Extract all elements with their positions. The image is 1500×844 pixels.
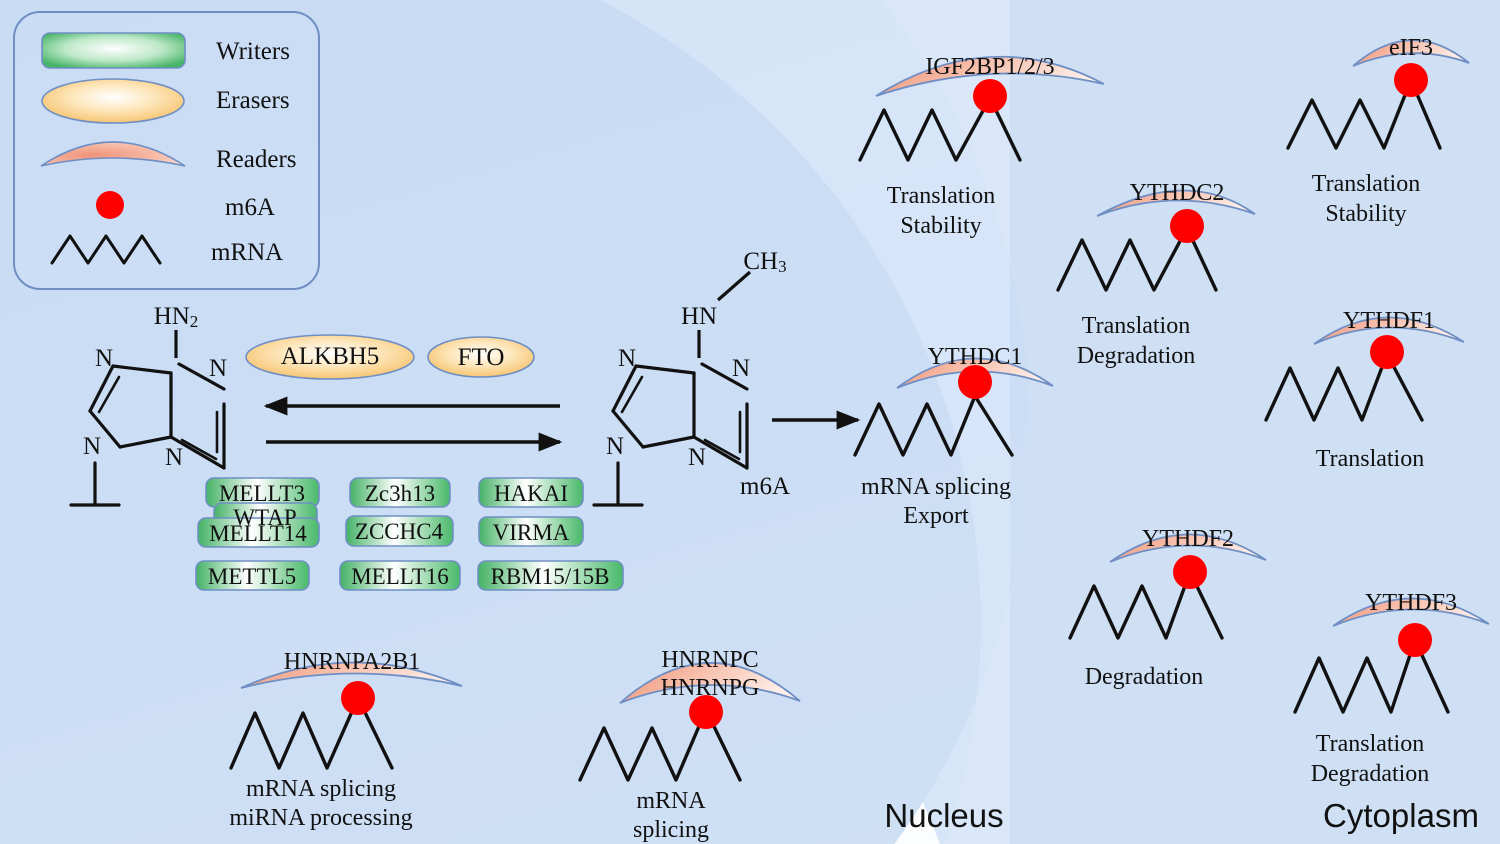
adenine-amine-label: HN2 — [154, 303, 199, 332]
m6a-dot — [1394, 63, 1428, 97]
reader-function-hnrnpc-2: splicing — [633, 816, 709, 844]
reader-function-ythdc1-2: Export — [903, 502, 968, 531]
m6a-dot — [1370, 335, 1404, 369]
reader-name-hnrnpa2b1[interactable]: HNRNPA2B1 — [284, 649, 421, 676]
m6a-ch-sub: 3 — [778, 257, 787, 276]
writer-label-rbm15-15b[interactable]: RBM15/15B — [491, 564, 610, 590]
m6a-n7-label: N — [618, 345, 636, 373]
legend-writers-swatch — [42, 33, 185, 68]
reader-function-ythdf3-2: Degradation — [1311, 760, 1430, 789]
reader-function-igf2bp-2: Stability — [900, 212, 981, 241]
writer-label-mellt16[interactable]: MELLT16 — [351, 564, 449, 590]
reader-function-ythdf3-1: Translation — [1316, 730, 1424, 759]
reader-function-hnrnpa2b1-1: mRNA splicing — [246, 775, 396, 804]
legend-label-writers: Writers — [216, 38, 290, 66]
reader-function-ythdc1-1: mRNA splicing — [861, 473, 1011, 502]
m6a-methyl-label: CH3 — [743, 248, 786, 277]
reader-name-ythdc2[interactable]: YTHDC2 — [1130, 180, 1225, 207]
m6a-dot — [1173, 555, 1207, 589]
m6a-dot — [1398, 623, 1432, 657]
compartment-label-nucleus: Nucleus — [884, 797, 1003, 835]
reader-name-eif3[interactable]: eIF3 — [1389, 35, 1433, 62]
adenine-hn-sub: 2 — [190, 312, 199, 331]
adenine-n1-label: N — [209, 355, 227, 383]
writer-label-zc3h13[interactable]: Zc3h13 — [365, 481, 435, 507]
m6a-n1-label: N — [732, 355, 750, 383]
legend-label-readers: Readers — [216, 146, 297, 174]
writer-label-zcchc4[interactable]: ZCCHC4 — [355, 519, 443, 545]
legend-erasers-swatch — [42, 79, 184, 123]
reader-function-igf2bp-1: Translation — [887, 182, 995, 211]
m6a-ch-text: CH — [743, 248, 778, 275]
reader-name-igf2bp[interactable]: IGF2BP1/2/3 — [925, 54, 1054, 81]
reader-function-hnrnpa2b1-2: miRNA processing — [229, 804, 412, 833]
adenine-hn-text: HN — [154, 303, 190, 330]
writer-label-mellt3[interactable]: MELLT3 — [219, 481, 305, 507]
adenine-n7-label: N — [95, 345, 113, 373]
reader-name-hnrnpg[interactable]: HNRNPG — [661, 675, 760, 702]
eraser-label-alkbh5[interactable]: ALKBH5 — [281, 343, 380, 371]
reader-function-ythdc2-2: Degradation — [1077, 342, 1196, 371]
eraser-label-fto[interactable]: FTO — [458, 344, 505, 372]
reader-name-ythdc1[interactable]: YTHDC1 — [928, 344, 1023, 371]
compartment-label-cytoplasm: Cytoplasm — [1323, 797, 1479, 835]
adenine-n3-label: N — [165, 444, 183, 472]
legend-label-m6a: m6A — [225, 194, 275, 222]
reader-name-ythdf1[interactable]: YTHDF1 — [1343, 308, 1435, 335]
reader-name-hnrnpc[interactable]: HNRNPC — [661, 647, 758, 674]
m6a-amine-label: HN — [681, 303, 717, 331]
writer-label-hakai[interactable]: HAKAI — [494, 481, 568, 507]
writer-label-mellt14[interactable]: MELLT14 — [209, 521, 307, 547]
m6a-caption: m6A — [740, 473, 790, 501]
reader-name-ythdf2[interactable]: YTHDF2 — [1142, 526, 1234, 553]
m6a-n3-label: N — [688, 444, 706, 472]
reader-function-eif3-2: Stability — [1325, 200, 1406, 229]
diagram-artwork — [0, 0, 1500, 844]
cytoplasm-region — [980, 0, 1500, 844]
reader-name-ythdf3[interactable]: YTHDF3 — [1365, 590, 1457, 617]
writer-label-virma[interactable]: VIRMA — [493, 520, 570, 546]
reader-function-ythdc2-1: Translation — [1082, 312, 1190, 341]
m6a-dot — [1170, 209, 1204, 243]
reader-function-hnrnpc-1: mRNA — [636, 787, 705, 816]
writer-label-mettl5[interactable]: METTL5 — [208, 564, 296, 590]
legend-label-erasers: Erasers — [216, 87, 290, 115]
m6a-n9-label: N — [606, 433, 624, 461]
adenine-n9-label: N — [83, 433, 101, 461]
reader-function-ythdf2-1: Degradation — [1085, 663, 1204, 692]
reader-function-eif3-1: Translation — [1312, 170, 1420, 199]
m6a-dot — [973, 79, 1007, 113]
legend-label-mrna: mRNA — [211, 239, 283, 267]
reader-function-ythdf1-1: Translation — [1316, 445, 1424, 474]
figure-canvas: Writers Erasers Readers m6A mRNA HN2 N N… — [0, 0, 1500, 844]
legend-m6a-swatch — [96, 191, 124, 219]
m6a-dot — [341, 681, 375, 715]
